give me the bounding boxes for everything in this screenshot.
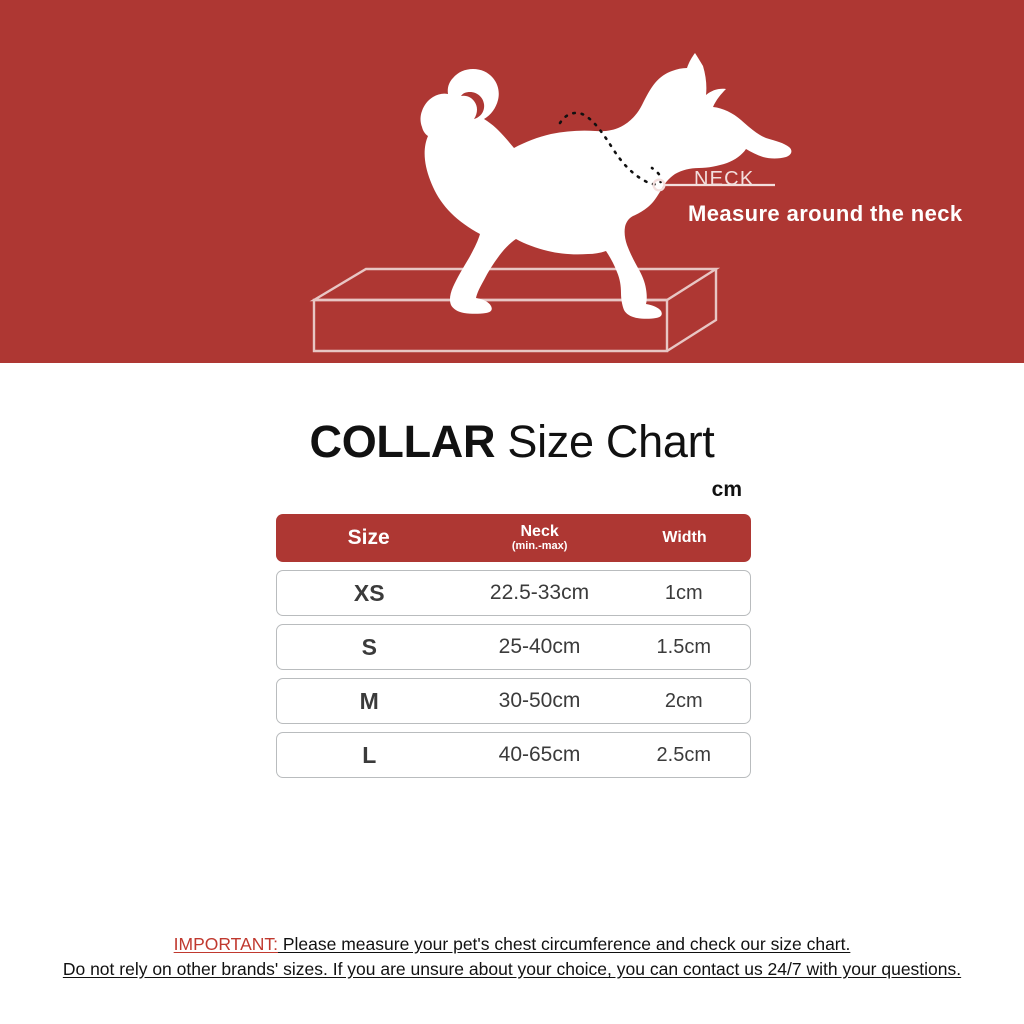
cell-width: 2.5cm <box>618 744 750 767</box>
header-neck-main: Neck <box>521 523 559 540</box>
footer-note: IMPORTANT: Please measure your pet's che… <box>0 932 1024 982</box>
cell-size: XS <box>277 580 461 607</box>
table-row: M 30-50cm 2cm <box>276 678 751 724</box>
dog-illustration <box>0 0 1024 363</box>
footer-line-2: Do not rely on other brands' sizes. If y… <box>0 957 1024 982</box>
cell-neck: 40-65cm <box>461 743 617 767</box>
header-size: Size <box>276 526 461 550</box>
cell-size: M <box>277 688 461 715</box>
cell-neck: 22.5-33cm <box>461 581 617 605</box>
cell-size: S <box>277 634 461 661</box>
table-row: XS 22.5-33cm 1cm <box>276 570 751 616</box>
title-regular: Size Chart <box>507 416 714 467</box>
cell-size: L <box>277 742 461 769</box>
page-title: COLLAR Size Chart <box>0 416 1024 468</box>
hero-banner: NECK Measure around the neck <box>0 0 1024 363</box>
footer-line-1: IMPORTANT: Please measure your pet's che… <box>0 932 1024 957</box>
header-neck-sub: (min.-max) <box>461 541 618 553</box>
neck-instruction: Measure around the neck <box>688 201 963 227</box>
neck-label: NECK <box>694 168 754 191</box>
table-row: S 25-40cm 1.5cm <box>276 624 751 670</box>
cell-width: 1cm <box>618 582 750 605</box>
header-neck: Neck (min.-max) <box>461 524 618 552</box>
table-header-row: Size Neck (min.-max) Width <box>276 514 751 562</box>
table-row: L 40-65cm 2.5cm <box>276 732 751 778</box>
important-label: IMPORTANT: <box>174 934 278 954</box>
cell-width: 1.5cm <box>618 636 750 659</box>
cell-neck: 30-50cm <box>461 689 617 713</box>
cell-width: 2cm <box>618 690 750 713</box>
footer-line-1-text: Please measure your pet's chest circumfe… <box>278 934 850 954</box>
header-width: Width <box>618 529 751 547</box>
cell-neck: 25-40cm <box>461 635 617 659</box>
unit-label: cm <box>276 478 751 502</box>
title-bold: COLLAR <box>310 416 496 467</box>
size-chart-table: Size Neck (min.-max) Width XS 22.5-33cm … <box>276 514 751 778</box>
